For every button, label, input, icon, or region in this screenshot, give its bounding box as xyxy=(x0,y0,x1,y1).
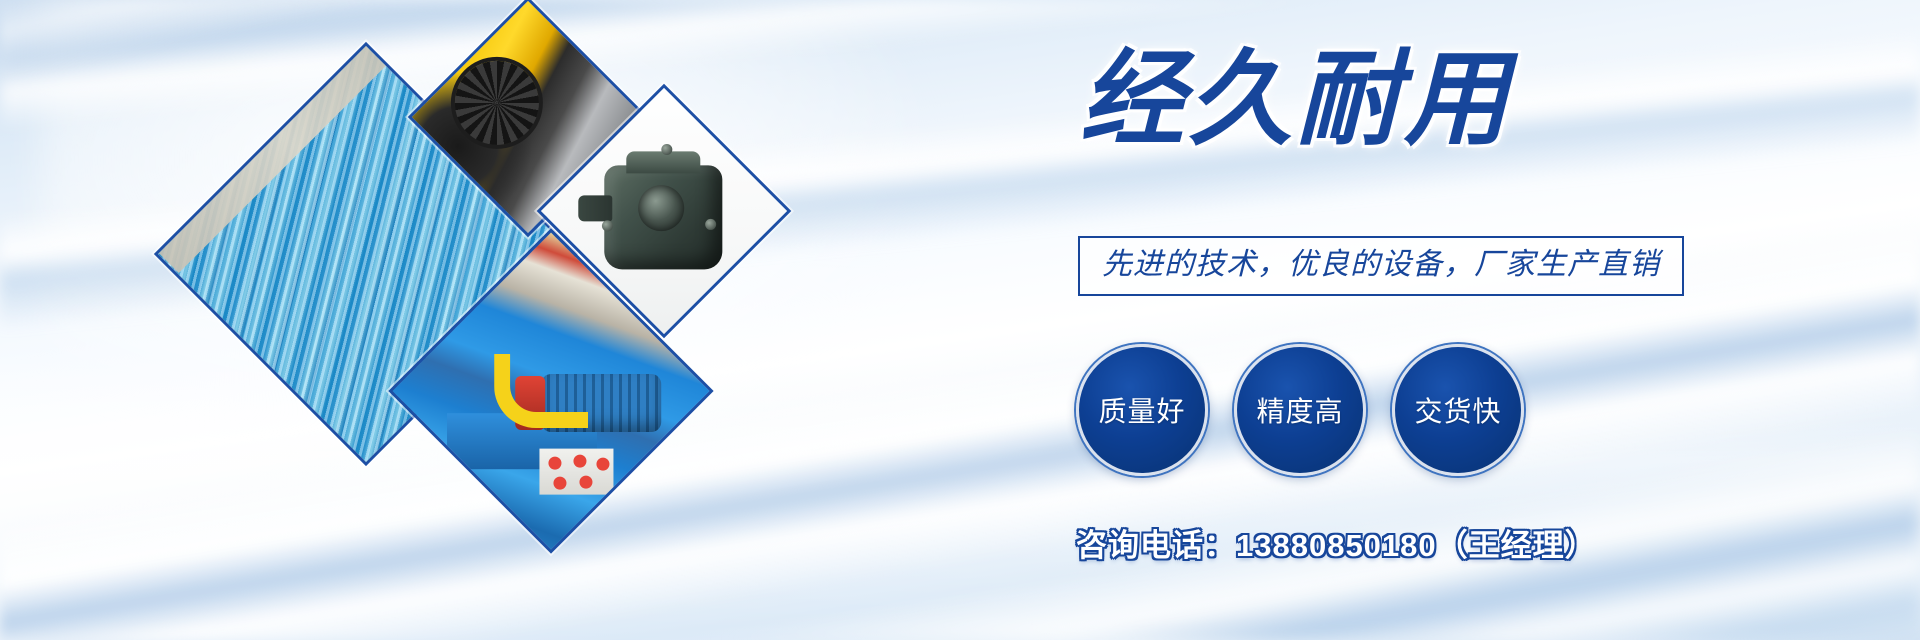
feature-badge-precision[interactable]: 精度高 xyxy=(1234,344,1366,476)
feature-badge-delivery[interactable]: 交货快 xyxy=(1392,344,1524,476)
promotional-banner: 经久耐用 先进的技术，优良的设备，厂家生产直销 质量好 精度高 交货快 咨询电话… xyxy=(0,0,1920,640)
contact-phone-line[interactable]: 咨询电话：13880850180（王经理） xyxy=(1076,520,1597,565)
photo-detail-pump-hub xyxy=(638,185,684,231)
feature-badge-quality[interactable]: 质量好 xyxy=(1076,344,1208,476)
valve-port-icon xyxy=(573,455,586,468)
feature-badge-label: 精度高 xyxy=(1256,390,1343,430)
feature-badge-group: 质量好 精度高 交货快 xyxy=(1076,344,1524,476)
photo-detail-valve-block xyxy=(539,449,613,495)
diamond-photo-collage xyxy=(150,16,830,626)
feature-badge-label: 交货快 xyxy=(1414,390,1501,430)
banner-headline: 经久耐用 xyxy=(1080,48,1512,152)
valve-port-icon xyxy=(548,457,561,470)
photo-detail-bolt xyxy=(705,219,716,230)
banner-subtitle: 先进的技术，优良的设备，厂家生产直销 xyxy=(1102,249,1660,281)
valve-port-icon xyxy=(553,477,566,490)
valve-port-icon xyxy=(579,476,592,489)
photo-detail-yellow-pipe xyxy=(494,354,588,428)
banner-subtitle-box: 先进的技术，优良的设备，厂家生产直销 xyxy=(1078,236,1684,296)
photo-detail-floor xyxy=(154,42,483,273)
valve-port-icon xyxy=(596,458,609,471)
photo-detail-bolt xyxy=(602,220,613,231)
feature-badge-label: 质量好 xyxy=(1098,390,1185,430)
photo-detail-cooling-fan xyxy=(455,61,539,145)
photo-detail-bolt xyxy=(661,144,672,155)
